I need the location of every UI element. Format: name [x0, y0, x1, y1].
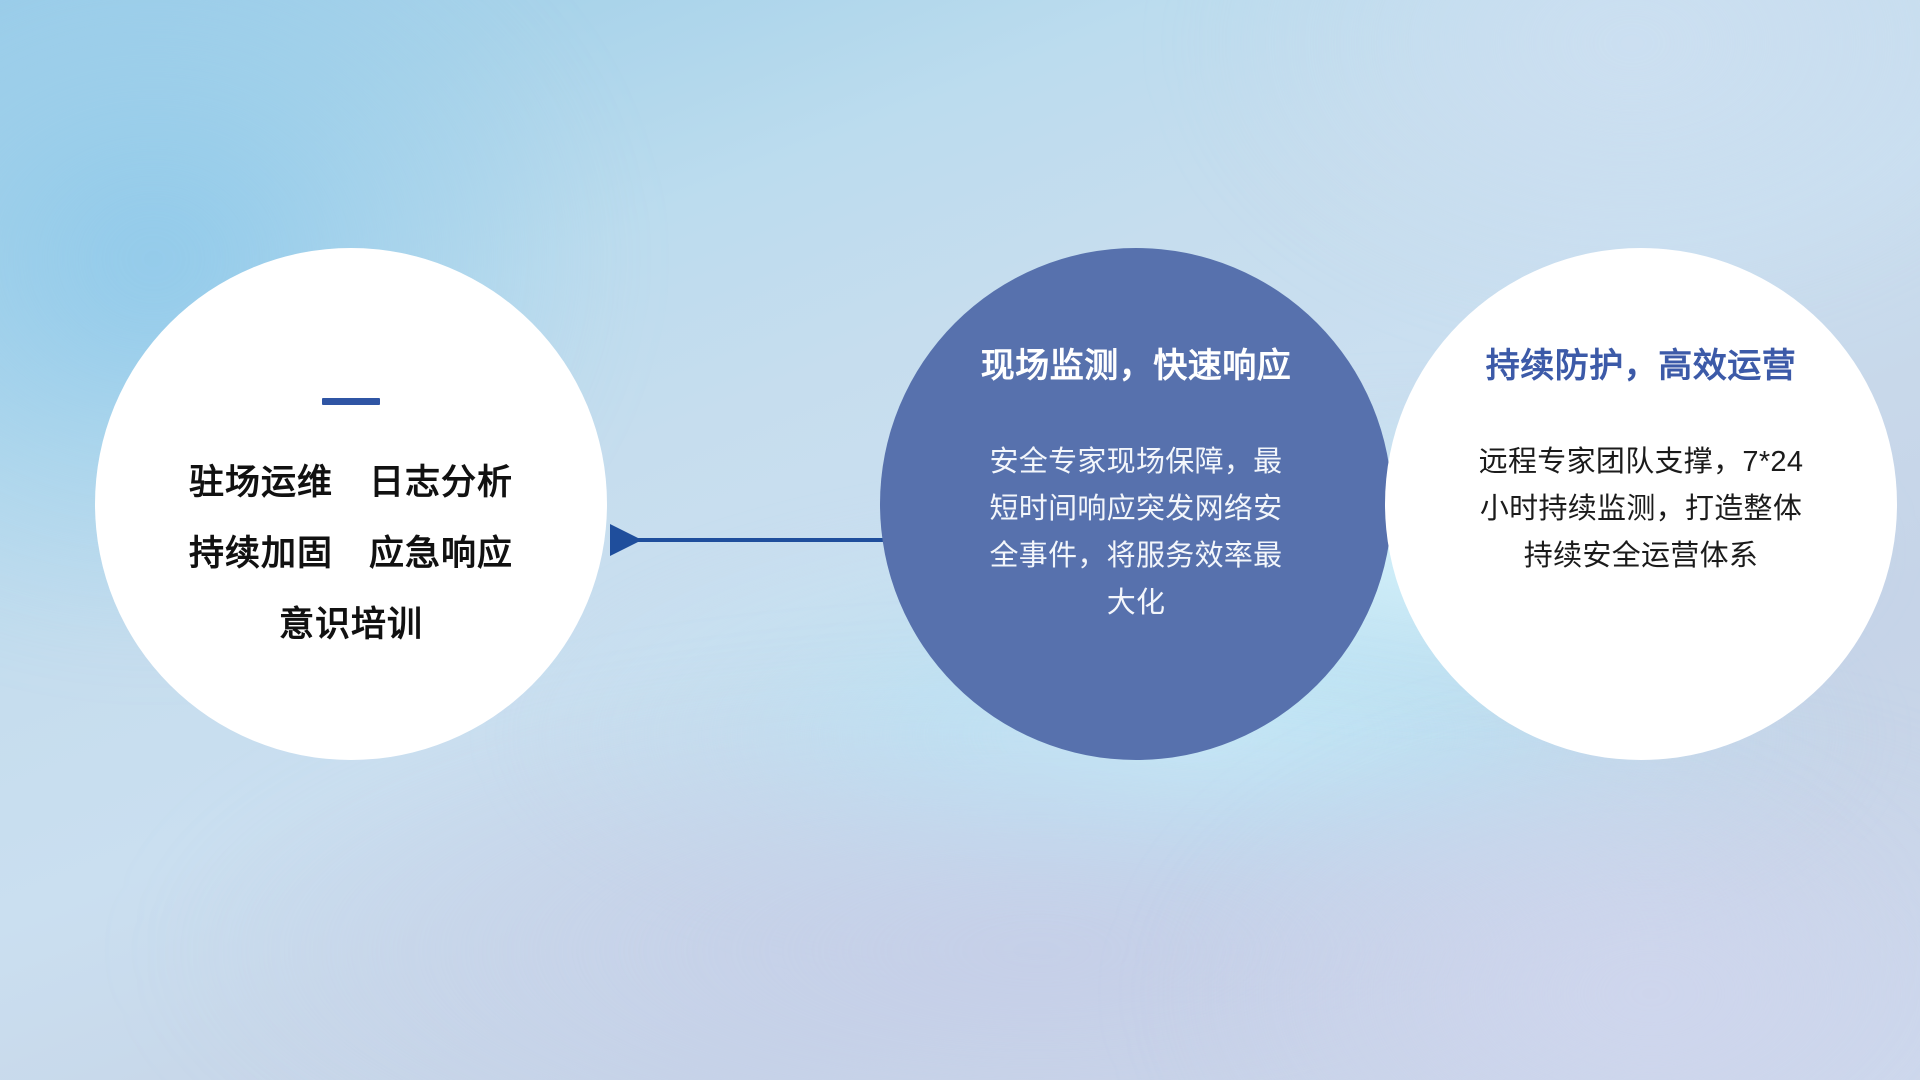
capability-tag-row: 意识培训 [279, 607, 423, 642]
capability-circle-right[interactable]: 持续防护，高效运营 远程专家团队支撑，7*24小时持续监测，打造整体持续安全运营… [1385, 248, 1897, 760]
capability-tag[interactable]: 日志分析 [369, 465, 513, 500]
capability-tag-row: 驻场运维 日志分析 [189, 465, 513, 500]
slide-canvas: 驻场运维 日志分析 持续加固 应急响应 意识培训 现场监测，快速响应 安全专家现… [0, 0, 1920, 1080]
flow-arrow-icon [600, 520, 900, 560]
capability-circle-left[interactable]: 驻场运维 日志分析 持续加固 应急响应 意识培训 [95, 248, 607, 760]
capability-tag[interactable]: 驻场运维 [189, 465, 333, 500]
capability-circle-center[interactable]: 现场监测，快速响应 安全专家现场保障，最短时间响应突发网络安全事件，将服务效率最… [880, 248, 1392, 760]
right-circle-title: 持续防护，高效运营 [1486, 346, 1797, 387]
capability-tag[interactable]: 应急响应 [369, 536, 513, 571]
capability-tag[interactable]: 持续加固 [189, 536, 333, 571]
accent-dash-divider [322, 398, 380, 405]
capability-tag-list: 驻场运维 日志分析 持续加固 应急响应 意识培训 [189, 465, 513, 642]
right-circle-body: 远程专家团队支撑，7*24小时持续监测，打造整体持续安全运营体系 [1466, 439, 1816, 580]
center-circle-body: 安全专家现场保障，最短时间响应突发网络安全事件，将服务效率最大化 [976, 439, 1296, 627]
center-circle-title: 现场监测，快速响应 [981, 346, 1292, 387]
capability-tag[interactable]: 意识培训 [279, 607, 423, 642]
capability-tag-row: 持续加固 应急响应 [189, 536, 513, 571]
